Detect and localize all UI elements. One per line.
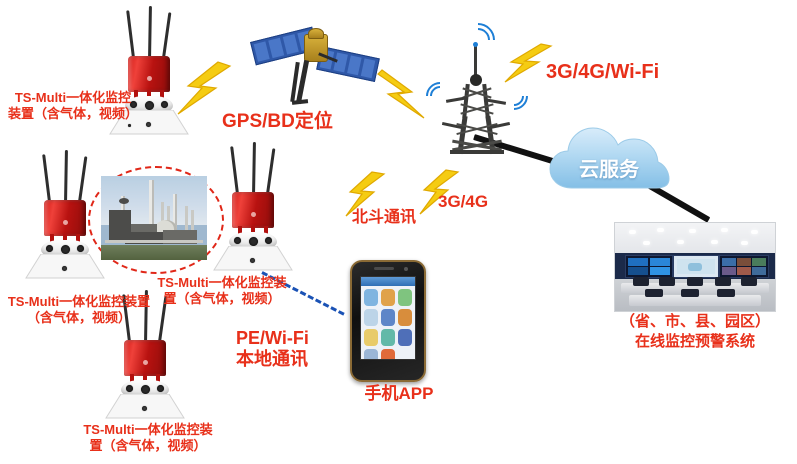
video-wall-center bbox=[673, 255, 719, 278]
tablet-app-grid[interactable] bbox=[364, 289, 412, 356]
ts-multi-device-middle bbox=[212, 142, 296, 270]
cloud-label: 云服务 bbox=[548, 153, 670, 182]
label-pe-wifi: PE/Wi-Fi 本地通讯 bbox=[236, 328, 344, 370]
label-gps-bd: GPS/BD定位 bbox=[222, 110, 350, 133]
cloud-service-icon: 云服务 bbox=[548, 120, 670, 196]
satellite-icon bbox=[248, 8, 378, 104]
label-3g4g-wifi: 3G/4G/Wi-Fi bbox=[546, 60, 716, 84]
tablet-screen[interactable] bbox=[360, 276, 416, 360]
label-beidou: 北斗通讯 bbox=[352, 208, 444, 228]
video-wall-right bbox=[719, 255, 769, 278]
chemical-plant-photo bbox=[101, 176, 207, 260]
control-room-photo bbox=[614, 222, 776, 312]
label-3g4g: 3G/4G bbox=[438, 192, 508, 213]
label-device-top: TS-Multi一体化监控 装置（含气体，视频） bbox=[2, 90, 144, 122]
ts-multi-device-left bbox=[24, 150, 108, 278]
label-mobile-app: 手机APP bbox=[352, 384, 446, 405]
video-wall-left bbox=[625, 255, 673, 278]
label-device-left: TS-Multi一体化监控装置 （含气体，视频） bbox=[0, 294, 158, 326]
label-control-room: （省、市、县、园区） 在线监控预警系统 bbox=[604, 312, 786, 351]
rugged-tablet-icon[interactable] bbox=[350, 260, 426, 382]
wifi-wave-icon bbox=[454, 16, 502, 64]
label-device-middle: TS-Multi一体化监控装 置（含气体，视频） bbox=[152, 275, 292, 307]
label-device-bottom: TS-Multi一体化监控装 置（含气体，视频） bbox=[72, 422, 224, 454]
communication-tower-icon bbox=[428, 20, 524, 155]
network-architecture-diagram: 云服务 bbox=[0, 0, 797, 464]
